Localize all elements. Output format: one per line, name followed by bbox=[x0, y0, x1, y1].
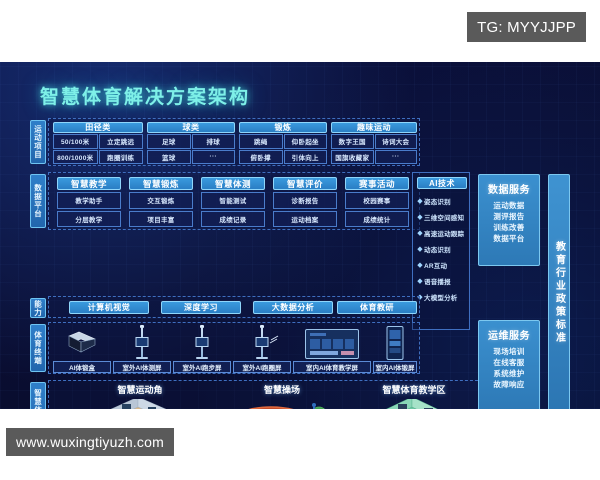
display-panel-bottom bbox=[390, 348, 401, 353]
sport-item: ··· bbox=[375, 150, 418, 165]
display-footer-bar bbox=[310, 351, 338, 355]
ai-item-label: 动态识别 bbox=[424, 244, 451, 254]
ops-service-item: 在线客服 bbox=[479, 357, 539, 368]
diamond-bullet-icon: ◆ bbox=[416, 277, 424, 285]
platform-group-title: 智慧评价 bbox=[273, 177, 337, 190]
terminal-label: 室外AI体测屏 bbox=[113, 361, 171, 373]
sport-item: 国旗收藏家 bbox=[331, 150, 374, 165]
platform-item: 分层教学 bbox=[57, 211, 121, 228]
ops-service-item: 系统维护 bbox=[479, 368, 539, 379]
platform-item: 教学助手 bbox=[57, 192, 121, 209]
row-label-platform: 数据平台 bbox=[30, 174, 46, 228]
sport-item: 排球 bbox=[192, 134, 236, 149]
platform-item: 运动档案 bbox=[273, 211, 337, 228]
terminal-label: 室外AI跑圈屏 bbox=[233, 361, 291, 373]
sport-item: 俯卧撑 bbox=[239, 150, 283, 165]
watermark-bottom-text: www.wuxingtiyuzh.com bbox=[16, 434, 164, 450]
sports-corner-illustration bbox=[75, 397, 205, 409]
display-panel-top bbox=[390, 330, 401, 339]
ai-list-item: ◆ 高速运动跟踪 bbox=[416, 225, 467, 241]
sport-group: 球类 足球 排球 篮球 ··· bbox=[147, 122, 235, 164]
outdoor-ai-test-screen-icon bbox=[113, 325, 171, 359]
platform-item: 项目丰富 bbox=[129, 211, 193, 228]
platform-item: 校园赛事 bbox=[345, 192, 409, 209]
base-shape bbox=[136, 357, 148, 359]
data-service-item: 测评报告 bbox=[479, 211, 539, 222]
platform-item: 成绩记录 bbox=[201, 211, 265, 228]
ai-item-label: AR互动 bbox=[424, 260, 447, 270]
platform-group-title: 智慧教学 bbox=[57, 177, 121, 190]
data-service-item: 训练改善 bbox=[479, 222, 539, 233]
sport-item: 跳绳 bbox=[239, 134, 283, 149]
ai-list-item: ◆ 姿态识别 bbox=[416, 193, 467, 209]
platform-group: 赛事活动 校园赛事 成绩统计 bbox=[345, 177, 409, 227]
wall-display-shape bbox=[305, 329, 359, 359]
capability-item: 计算机视觉 bbox=[69, 301, 149, 314]
terminal-item: 室内AI体育教学屏 bbox=[293, 325, 371, 373]
display-panel-mid bbox=[390, 341, 401, 346]
sport-group-title: 锻炼 bbox=[239, 122, 327, 133]
scene-item: 智慧操场 bbox=[217, 383, 347, 409]
terminal-item: 室外AI跑步屏 bbox=[173, 325, 231, 373]
ai-list-item: ◆ 动态识别 bbox=[416, 241, 467, 257]
ai-item-label: 三维空间感知 bbox=[424, 212, 464, 222]
terminal-row: AI体锻盒 室外AI体测屏 bbox=[48, 322, 420, 374]
ai-technology-title: AI技术 bbox=[417, 177, 467, 189]
sport-group: 趣味运动 数字王国 诗词大会 国旗收藏家 ··· bbox=[331, 122, 417, 164]
diamond-bullet-icon: ◆ bbox=[416, 197, 424, 205]
platform-row: 智慧教学 教学助手 分层教学 智慧锻炼 交互锻炼 项目丰富 智慧体测 智能测试 … bbox=[48, 172, 420, 230]
capability-item: 深度学习 bbox=[161, 301, 241, 314]
capability-row: 计算机视觉 深度学习 大数据分析 体育教研 bbox=[48, 296, 420, 318]
diamond-bullet-icon: ◆ bbox=[416, 245, 424, 253]
row-label-terminals: 体育终端 bbox=[30, 324, 46, 372]
sport-item: 篮球 bbox=[147, 150, 191, 165]
ai-technology-panel: AI技术 ◆ 姿态识别 ◆ 三维空间感知 ◆ 高速运动跟踪 ◆ 动态识别 ◆ A… bbox=[412, 172, 470, 330]
ai-exercise-box-icon bbox=[53, 325, 111, 359]
sports-row: 田径类 50/100米 立定跳远 800/1000米 跑圈训练 球类 足球 排球… bbox=[48, 118, 420, 166]
ai-list-item: ◆ 大模型分析 bbox=[416, 289, 467, 305]
outdoor-ai-lap-screen-icon bbox=[233, 325, 291, 359]
capability-item: 体育教研 bbox=[337, 301, 417, 314]
vertical-display-shape bbox=[387, 326, 404, 360]
terminal-label: 室外AI跑步屏 bbox=[173, 361, 231, 373]
sport-group: 锻炼 跳绳 仰卧起坐 俯卧撑 引体向上 bbox=[239, 122, 327, 164]
platform-item: 交互锻炼 bbox=[129, 192, 193, 209]
terminal-label: 室内AI体锻屏 bbox=[373, 361, 417, 373]
platform-group: 智慧体测 智能测试 成绩记录 bbox=[201, 177, 265, 227]
ops-service-item: 故障响应 bbox=[479, 379, 539, 390]
scene-row: 智慧运动角 bbox=[48, 380, 488, 409]
row-label-sports: 运动项目 bbox=[30, 120, 46, 164]
policy-standard-bar: 教育行业政策标准 bbox=[548, 174, 570, 409]
data-service-title: 数据服务 bbox=[479, 181, 539, 196]
teaching-zone-illustration bbox=[349, 397, 479, 409]
platform-group-title: 智慧体测 bbox=[201, 177, 265, 190]
smart-playground-illustration bbox=[217, 397, 347, 409]
terminal-item: AI体锻盒 bbox=[53, 325, 111, 373]
screen-shape bbox=[256, 337, 269, 347]
sport-item: 足球 bbox=[147, 134, 191, 149]
sport-item: 数字王国 bbox=[331, 134, 374, 149]
terminal-item: 室内AI体锻屏 bbox=[373, 325, 417, 373]
sport-group-title: 田径类 bbox=[53, 122, 143, 133]
watermark-top-text: TG: MYYJJPP bbox=[477, 19, 576, 36]
terminal-item: 室外AI跑圈屏 bbox=[233, 325, 291, 373]
screen-shape bbox=[196, 337, 209, 347]
ops-service-panel: 运维服务 现场培训 在线客服 系统维护 故障响应 bbox=[478, 320, 540, 409]
ai-item-label: 高速运动跟踪 bbox=[424, 228, 464, 238]
ai-item-label: 大模型分析 bbox=[424, 292, 458, 302]
sport-group: 田径类 50/100米 立定跳远 800/1000米 跑圈训练 bbox=[53, 122, 143, 164]
indoor-ai-exercise-screen-icon bbox=[373, 325, 417, 359]
scene-title: 智慧体育教学区 bbox=[349, 383, 479, 395]
ai-list-item: ◆ 三维空间感知 bbox=[416, 209, 467, 225]
platform-group: 智慧锻炼 交互锻炼 项目丰富 bbox=[129, 177, 193, 227]
capability-item: 大数据分析 bbox=[253, 301, 333, 314]
ai-item-label: 语音播报 bbox=[424, 276, 451, 286]
terminal-label: AI体锻盒 bbox=[53, 361, 111, 373]
data-service-item: 运动数据 bbox=[479, 200, 539, 211]
ai-technology-list: ◆ 姿态识别 ◆ 三维空间感知 ◆ 高速运动跟踪 ◆ 动态识别 ◆ AR互动 ◆… bbox=[416, 193, 467, 327]
watermark-top: TG: MYYJJPP bbox=[467, 12, 586, 42]
ai-list-item: ◆ AR互动 bbox=[416, 257, 467, 273]
sport-item: 50/100米 bbox=[53, 134, 98, 149]
row-label-capability: 能力 bbox=[30, 298, 46, 318]
sport-item: 引体向上 bbox=[284, 150, 328, 165]
isometric-classroom-shape bbox=[364, 399, 464, 409]
indoor-ai-teaching-screen-icon bbox=[293, 325, 371, 359]
diamond-bullet-icon: ◆ bbox=[416, 261, 424, 269]
platform-item: 智能测试 bbox=[201, 192, 265, 209]
base-shape bbox=[196, 357, 208, 359]
ai-item-label: 姿态识别 bbox=[424, 196, 451, 206]
data-service-panel: 数据服务 运动数据 测评报告 训练改善 数据平台 bbox=[478, 174, 540, 266]
sport-item: 立定跳远 bbox=[99, 134, 144, 149]
watermark-bottom: www.wuxingtiyuzh.com bbox=[6, 428, 174, 456]
platform-group-title: 赛事活动 bbox=[345, 177, 409, 190]
platform-group: 智慧教学 教学助手 分层教学 bbox=[57, 177, 121, 227]
box-device-shape bbox=[65, 330, 99, 356]
display-footer-accent bbox=[341, 351, 354, 355]
diamond-bullet-icon: ◆ bbox=[416, 229, 424, 237]
data-service-item: 数据平台 bbox=[479, 233, 539, 244]
scene-item: 智慧体育教学区 bbox=[349, 383, 479, 409]
ops-service-item: 现场培训 bbox=[479, 346, 539, 357]
outdoor-ai-running-screen-icon bbox=[173, 325, 231, 359]
ops-service-title: 运维服务 bbox=[479, 327, 539, 342]
architecture-poster: 智慧体育解决方案架构 运动项目 数据平台 能力 体育终端 智慧体育场景 田径类 … bbox=[0, 62, 600, 409]
base-shape bbox=[256, 357, 268, 359]
display-tiles bbox=[310, 339, 354, 349]
sport-group-title: 趣味运动 bbox=[331, 122, 417, 133]
scene-title: 智慧操场 bbox=[217, 383, 347, 395]
signal-waves-icon bbox=[269, 335, 283, 345]
row-label-scenes: 智慧体育场景 bbox=[30, 382, 46, 409]
platform-group-title: 智慧锻炼 bbox=[129, 177, 193, 190]
diamond-bullet-icon: ◆ bbox=[416, 213, 424, 221]
ai-list-item: ◆ 语音播报 bbox=[416, 273, 467, 289]
screen-shape bbox=[136, 337, 149, 347]
isometric-room-shape bbox=[86, 399, 194, 409]
sport-item: 仰卧起坐 bbox=[284, 134, 328, 149]
scene-title: 智慧运动角 bbox=[75, 383, 205, 395]
scene-item: 智慧运动角 bbox=[75, 383, 205, 409]
terminal-label: 室内AI体育教学屏 bbox=[293, 361, 371, 373]
sport-group-title: 球类 bbox=[147, 122, 235, 133]
terminal-item: 室外AI体测屏 bbox=[113, 325, 171, 373]
platform-item: 成绩统计 bbox=[345, 211, 409, 228]
platform-item: 诊断报告 bbox=[273, 192, 337, 209]
page-title: 智慧体育解决方案架构 bbox=[40, 82, 250, 109]
sport-item: ··· bbox=[192, 150, 236, 165]
sport-item: 诗词大会 bbox=[375, 134, 418, 149]
isometric-track-shape bbox=[223, 399, 341, 409]
sport-item: 跑圈训练 bbox=[99, 150, 144, 165]
platform-group: 智慧评价 诊断报告 运动档案 bbox=[273, 177, 337, 227]
display-header-bar bbox=[310, 333, 326, 336]
sport-item: 800/1000米 bbox=[53, 150, 98, 165]
